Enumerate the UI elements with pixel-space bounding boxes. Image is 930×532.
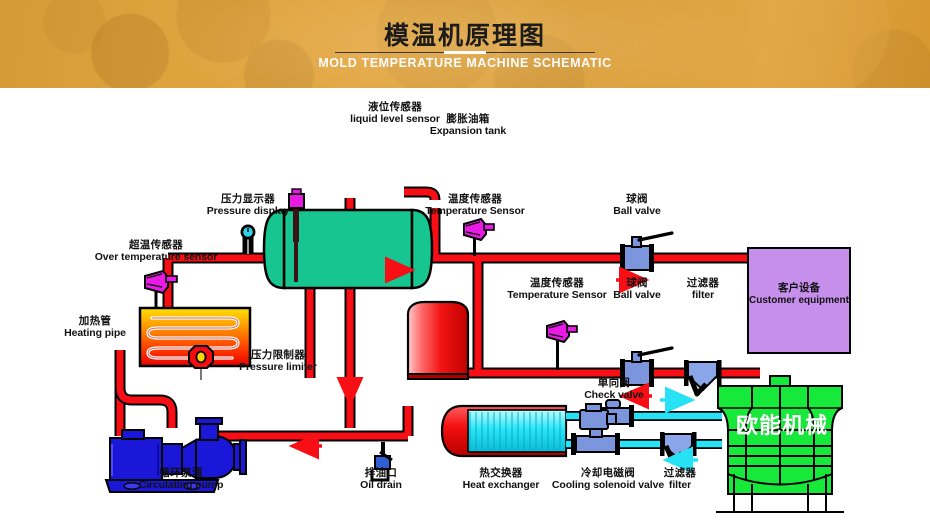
- title-divider: [335, 52, 595, 53]
- schematic-diagram: 液位传感器 liquid level sensor 膨胀油箱 Expansion…: [0, 88, 930, 532]
- cooling-tower-brand: 欧能机械: [722, 408, 842, 440]
- filter-1-icon: [684, 360, 722, 394]
- page-header: 模温机原理图 MOLD TEMPERATURE MACHINE SCHEMATI…: [0, 0, 930, 88]
- page-title-en: MOLD TEMPERATURE MACHINE SCHEMATIC: [0, 56, 930, 70]
- schematic-page: 模温机原理图 MOLD TEMPERATURE MACHINE SCHEMATI…: [0, 0, 930, 532]
- equipment-label-cn: 客户设备: [744, 282, 854, 295]
- cooling-tower-icon: [716, 376, 844, 512]
- expansion-tank-icon: [264, 210, 432, 288]
- heat-exchanger-icon: [442, 406, 566, 456]
- oil-drain-icon: [372, 442, 392, 480]
- pressure-limiter-icon: [189, 346, 213, 380]
- customer-equipment-label: 客户设备 Customer equipment: [744, 282, 854, 307]
- schematic-svg: [0, 88, 930, 532]
- filter-2-icon: [660, 432, 697, 462]
- temperature-sensor-2-icon: [547, 321, 577, 370]
- page-title-cn: 模温机原理图: [0, 16, 930, 52]
- equipment-label-en: Customer equipment: [744, 295, 854, 307]
- temperature-sensor-1-icon: [464, 219, 494, 256]
- circulating-pump-icon: [106, 418, 246, 492]
- pressure-vessel-icon: [408, 302, 468, 379]
